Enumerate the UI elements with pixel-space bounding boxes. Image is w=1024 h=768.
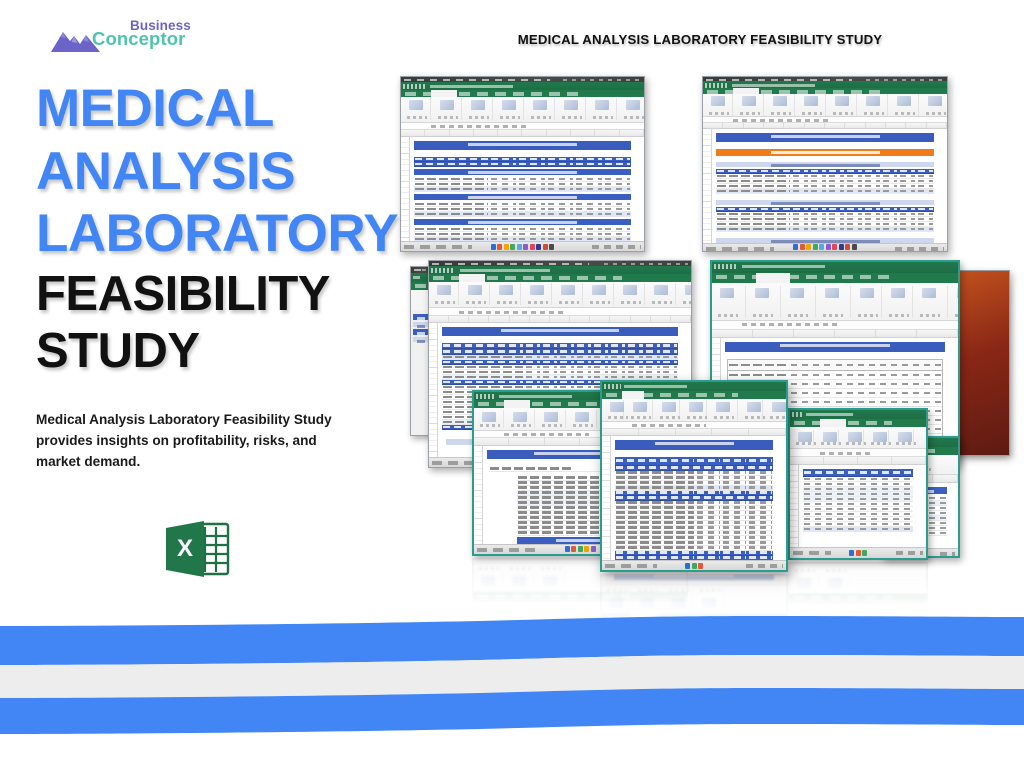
excel-row-headers bbox=[703, 129, 712, 243]
title-line-5: STUDY bbox=[36, 323, 400, 381]
excel-window-income-statement[interactable] bbox=[600, 380, 788, 572]
excel-column-headers bbox=[790, 457, 926, 465]
wave-band-lower bbox=[0, 688, 1024, 734]
excel-ribbon[interactable] bbox=[703, 94, 947, 117]
excel-ribbon[interactable] bbox=[602, 399, 786, 421]
excel-ribbon[interactable] bbox=[790, 427, 926, 449]
excel-formula-bar[interactable] bbox=[703, 117, 947, 123]
title-line-3: LABORATORY bbox=[36, 203, 400, 266]
reflection-lower-right bbox=[788, 562, 928, 618]
excel-sheet-tabs-dock[interactable] bbox=[790, 547, 926, 558]
sheet-title-band bbox=[414, 141, 631, 150]
excel-ribbon-tabs[interactable] bbox=[602, 391, 786, 399]
excel-sheet-grid[interactable] bbox=[703, 129, 947, 243]
excel-title-bar bbox=[602, 382, 786, 391]
excel-formula-bar[interactable] bbox=[602, 422, 786, 429]
excel-formula-bar[interactable] bbox=[429, 308, 691, 315]
title-line-4: FEASIBILITY bbox=[36, 266, 400, 324]
excel-window-financing-plan[interactable] bbox=[788, 408, 928, 560]
excel-ribbon-tabs[interactable] bbox=[790, 419, 926, 427]
excel-title-bar bbox=[790, 410, 926, 419]
excel-sheet-grid[interactable] bbox=[401, 137, 644, 242]
document-header-title: MEDICAL ANALYSIS LABORATORY FEASIBILITY … bbox=[420, 32, 980, 47]
excel-column-headers bbox=[712, 330, 958, 338]
excel-ribbon[interactable] bbox=[401, 97, 644, 123]
excel-formula-bar[interactable] bbox=[401, 123, 644, 130]
excel-sheet-tabs-dock[interactable] bbox=[602, 560, 786, 570]
logo-text-conceptor: Conceptor bbox=[92, 30, 191, 49]
excel-ribbon-tabs[interactable] bbox=[712, 273, 958, 283]
sheet-title-band bbox=[725, 342, 945, 352]
excel-column-headers bbox=[429, 316, 691, 323]
excel-window-revenue[interactable] bbox=[400, 76, 645, 252]
excel-title-bar bbox=[401, 82, 644, 90]
excel-letter-x: X bbox=[177, 535, 193, 562]
excel-row-headers bbox=[602, 436, 611, 561]
excel-formula-bar[interactable] bbox=[712, 321, 958, 330]
excel-row-headers bbox=[790, 465, 799, 547]
hero-subtitle: Medical Analysis Laboratory Feasibility … bbox=[36, 409, 354, 472]
brand-logo[interactable]: Business Conceptor bbox=[50, 18, 210, 62]
poster-canvas: Business Conceptor MEDICAL ANALYSIS LABO… bbox=[0, 0, 1024, 768]
hero-panel: Business Conceptor MEDICAL ANALYSIS LABO… bbox=[0, 0, 400, 640]
reflection-front-center bbox=[600, 574, 788, 638]
title-line-1: MEDICAL bbox=[36, 78, 400, 141]
microsoft-excel-icon: X bbox=[164, 520, 230, 578]
year-banner bbox=[716, 149, 934, 156]
page-title: MEDICAL ANALYSIS LABORATORY FEASIBILITY … bbox=[36, 78, 400, 381]
excel-column-headers bbox=[602, 429, 786, 436]
excel-sheet-tabs-dock[interactable] bbox=[703, 243, 947, 251]
excel-ribbon[interactable] bbox=[429, 282, 691, 309]
excel-ribbon-tabs[interactable] bbox=[401, 90, 644, 97]
section-band bbox=[414, 169, 631, 175]
excel-title-bar bbox=[712, 262, 958, 273]
excel-sheet-grid[interactable] bbox=[790, 465, 926, 547]
title-line-2: ANALYSIS bbox=[36, 141, 400, 204]
excel-formula-bar[interactable] bbox=[790, 449, 926, 457]
excel-row-headers bbox=[429, 323, 438, 457]
wave-gap bbox=[0, 655, 1024, 698]
excel-sheet-tabs-dock[interactable] bbox=[401, 241, 644, 251]
excel-row-headers bbox=[401, 137, 410, 242]
sheet-title-band bbox=[442, 327, 678, 336]
excel-ribbon[interactable] bbox=[712, 283, 958, 320]
excel-sheet-grid[interactable] bbox=[602, 436, 786, 561]
excel-column-headers bbox=[401, 130, 644, 137]
excel-ribbon-tabs[interactable] bbox=[429, 274, 691, 281]
sheet-title-band bbox=[615, 440, 773, 450]
excel-row-headers bbox=[474, 446, 483, 544]
excel-title-bar bbox=[429, 266, 691, 274]
excel-screenshot-collage bbox=[392, 62, 1016, 602]
sheet-title-band bbox=[716, 133, 934, 142]
excel-window-budget[interactable] bbox=[702, 76, 948, 252]
